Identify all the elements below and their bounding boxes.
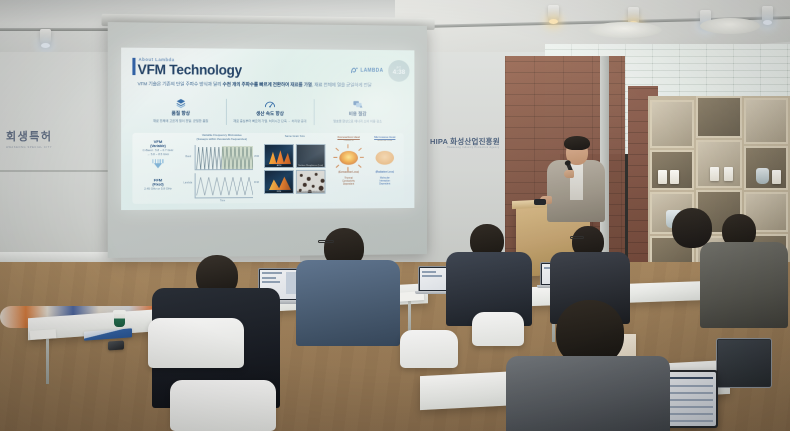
benefit-cost: 비용 절감 열효율 향상으로 에너지 소비 비용 감소 (314, 97, 401, 123)
ui-bar (422, 271, 436, 273)
layers-icon (135, 96, 225, 109)
screen-surface: About Lambda VFM Technology VFM 기술은 기존의 … (108, 22, 427, 258)
laptop-screen (716, 338, 772, 388)
convection-loss-label: (Convection Loss) (332, 171, 364, 174)
brochure (670, 170, 679, 184)
eyeglasses (318, 240, 334, 243)
wall-seam (0, 170, 120, 172)
chair-4 (472, 312, 524, 346)
presentation-clicker (534, 199, 546, 205)
chart-axis-right-bottom: FFM (254, 181, 259, 184)
ffm-spec: 2.45 GHz or 5.8 GHz (132, 187, 183, 191)
presenter-hand (564, 170, 574, 178)
waveform-chart-column: Variable Frequency Microwave (Sweeps wit… (183, 133, 260, 204)
ui-bar (422, 275, 442, 277)
sem-ffm-caption: Non-Uniform Cluster (297, 191, 325, 193)
heat-ray (348, 144, 349, 148)
title-accent-bar (132, 58, 135, 75)
particle (315, 173, 318, 176)
presenter-shirt (570, 160, 583, 200)
convection-heat-diagram (339, 151, 358, 165)
audience-body (296, 260, 400, 346)
shelf-cube (696, 96, 742, 138)
shelf-cube (696, 140, 742, 188)
chart-axis-left-bottom: Lambda (183, 181, 192, 184)
benefits-row: 품질 향상 재료 전체에 고르게 열이 전달, 균일한 품질 생산 (135, 96, 400, 123)
microwave-heat-title: Microwave Heat (369, 135, 401, 139)
chart-axis-x: Time (220, 199, 225, 202)
particle (321, 179, 325, 183)
microscopy-image-grid: AFM Surface Roughness (Low) FFM (264, 144, 326, 194)
lambda-mark-icon (350, 66, 359, 75)
chair-3 (400, 330, 458, 368)
ui-bar (262, 272, 282, 274)
conference-room-photo: 회생특허 HWASEONG SPECIAL CITY HIPA 화성산업진흥원 … (0, 0, 790, 431)
brochure (658, 170, 667, 184)
afm-topography (269, 149, 291, 164)
convection-heat-title: Convection Heat (332, 135, 364, 139)
shelf-cube (744, 146, 788, 190)
wall-sign-left-text: 회생특허 (6, 128, 52, 144)
ceiling-spotlight-icon (762, 6, 773, 23)
benefit-quality-desc: 재료 전체에 고르게 열이 전달, 균일한 품질 (135, 118, 225, 123)
presentation-timer-badge: PT 4:38 (388, 60, 409, 82)
microwave-heat-diagram (376, 151, 394, 165)
sem-image-vfm: Surface Roughness (Low) (296, 144, 326, 168)
microscopy-heading: Same Grain Size (260, 135, 329, 138)
coffee-cup (114, 312, 125, 327)
benefit-speed: 생산 속도 향상 재료 중심부터 빠르게 가열, 처리시간 단축 → 처리량 증… (226, 97, 314, 123)
benefit-speed-heading: 생산 속도 향상 (226, 111, 314, 117)
lambda-logo: LAMBDA (350, 66, 383, 75)
vfm-waveform-plot (195, 145, 253, 170)
wall-sign-right: HIPA 화성산업진흥원 (430, 136, 500, 147)
particle (307, 177, 311, 181)
brochure (724, 167, 733, 181)
heat-ray (336, 148, 339, 151)
afm-image-caption: AFM (265, 165, 293, 167)
eyeglasses (570, 236, 584, 239)
cost-down-icon (314, 97, 401, 110)
afm-topography (269, 175, 291, 190)
benefit-speed-desc: 재료 중심부터 빠르게 가열, 처리시간 단축 → 처리량 증대 (226, 118, 314, 123)
particle (303, 183, 307, 187)
slide-subtitle-part1: VFM 기술은 기존의 단일 주파수 방식과 달리 (138, 81, 223, 87)
mode-labels-column: VFM (Variable) C-Band : 5.8 ~ 6.7 GHz → … (132, 133, 183, 204)
table-leg (46, 332, 49, 384)
vfm-spec: C-Band : 5.8 ~ 6.7 GHz → 5.8 ~ 8.5 GHz (132, 149, 183, 157)
comparison-panel: VFM (Variable) C-Band : 5.8 ~ 6.7 GHz → … (132, 133, 403, 204)
slide-title: VFM Technology (138, 62, 242, 78)
sem-image-caption: Surface Roughness (Low) (297, 165, 325, 167)
speed-gauge-icon (226, 97, 314, 110)
wall-sign-right-text: HIPA 화성산업진흥원 (430, 136, 500, 147)
ceiling-spotlight-icon (548, 5, 559, 22)
brochure (772, 170, 781, 184)
heat-ray (360, 157, 364, 158)
slide-subtitle-part2: , 재료 전체에 열을 균일하게 전달 (312, 82, 372, 87)
radiation-loss-label: (Radiation Loss) (369, 171, 401, 174)
smartphone (108, 340, 124, 350)
slide-subtitle: VFM 기술은 기존의 단일 주파수 방식과 달리 수천 개의 주파수를 빠르게… (138, 81, 399, 89)
convection-note: Thermal Conductivity Dependent (332, 178, 364, 187)
wall-sign-left: 회생특허 HWASEONG SPECIAL CITY (6, 128, 52, 149)
chart-caption-line2: (Sweeps within thousands frequencies) (183, 138, 260, 142)
benefit-cost-heading: 비용 절감 (314, 111, 401, 117)
benefit-divider (314, 99, 315, 125)
microwave-note: Molecular Interaction Dependent (369, 177, 401, 186)
particle (300, 174, 303, 177)
ui-bar (262, 277, 276, 279)
ceiling-light-disc (700, 18, 760, 34)
benefit-quality-heading: 품질 향상 (135, 111, 225, 117)
slide-subtitle-emphasis: 수천 개의 주파수를 빠르게 전환하여 재료를 가열 (223, 82, 312, 88)
shelf-cube (744, 98, 788, 144)
heat-ray (358, 148, 361, 151)
chair-2 (170, 380, 276, 431)
sem-image-ffm: Non-Uniform Cluster (296, 170, 326, 194)
lambda-logo-text: LAMBDA (360, 67, 383, 73)
waveform-plots (195, 145, 253, 198)
laptop-display-content (718, 340, 770, 386)
chart-axis-right-top: VFM (254, 155, 259, 158)
afm-image-vfm: AFM (264, 144, 294, 168)
shelf-cube (650, 150, 694, 190)
audience-body (506, 356, 670, 431)
particle (312, 185, 315, 188)
papers (30, 329, 57, 340)
convection-heat-sub: Outside-In (332, 140, 364, 142)
presentation-slide: About Lambda VFM Technology VFM 기술은 기존의 … (121, 48, 414, 210)
heat-ray (333, 157, 337, 158)
afm-ffm-caption: FFM (265, 191, 293, 193)
chair-1 (148, 318, 244, 368)
benefit-quality: 품질 향상 재료 전체에 고르게 열이 전달, 균일한 품질 (135, 96, 225, 122)
microwave-heat-sub: Molecular Level (369, 140, 401, 142)
ceiling-spotlight-icon (40, 29, 51, 46)
benefit-cost-desc: 열효율 향상으로 에너지 소비 비용 감소 (314, 119, 401, 123)
audience-body (700, 242, 788, 328)
benefit-divider (226, 99, 227, 125)
audience-head (672, 208, 712, 248)
ffm-waveform-plot (195, 173, 253, 198)
brochure (710, 167, 719, 181)
ui-bar (262, 281, 280, 283)
projection-screen: About Lambda VFM Technology VFM 기술은 기존의 … (108, 22, 427, 258)
shelf-cube (650, 100, 694, 148)
award-trophy (756, 168, 769, 184)
timer-value: 4:38 (393, 70, 405, 76)
transition-arrow-icon (154, 163, 162, 168)
chart-axis-left-top: Band (185, 155, 191, 158)
heat-diagram-column: Convection Heat Outside-In Microwave Hea… (329, 133, 403, 203)
wall-sign-left-subtext: HWASEONG SPECIAL CITY (6, 146, 52, 149)
wall-sign-right-subtext: Hwaseong Industry Promotion Agency (447, 147, 500, 149)
ceiling-light-disc (588, 22, 662, 38)
heat-ray (336, 165, 339, 168)
ffm-label-group: FFM (Fixed) 2.45 GHz or 5.8 GHz (132, 177, 183, 191)
heat-ray (358, 165, 361, 168)
vfm-label-group: VFM (Variable) C-Band : 5.8 ~ 6.7 GHz → … (132, 139, 183, 157)
presenter-hair (564, 136, 590, 150)
microscopy-column: Same Grain Size AFM Surface Roughness (L… (260, 133, 329, 203)
afm-image-ffm: FFM (264, 170, 294, 194)
